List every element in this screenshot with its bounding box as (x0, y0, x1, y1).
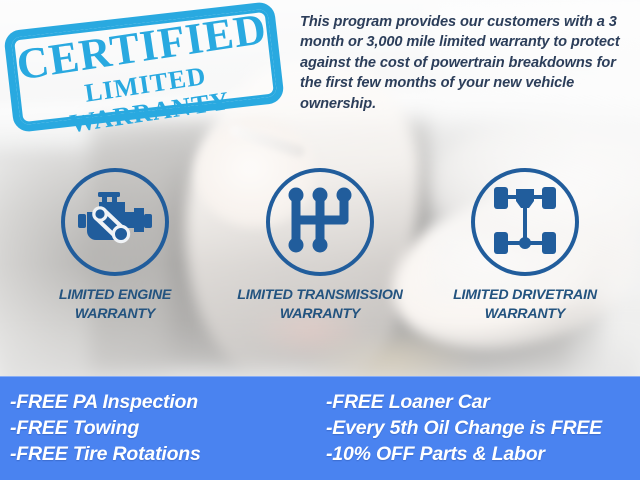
certified-warranty-banner: CERTIFIED LIMITED WARRANTY This program … (0, 0, 640, 480)
perks-column-left: -FREE PA Inspection -FREE Towing -FREE T… (0, 389, 318, 467)
transmission-shifter-icon (287, 186, 353, 259)
perks-bar: -FREE PA Inspection -FREE Towing -FREE T… (0, 376, 640, 480)
transmission-icon-circle (266, 168, 374, 276)
feature-label-engine: LIMITED ENGINE WARRANTY (59, 286, 171, 324)
feature-limited-engine-warranty: LIMITED ENGINE WARRANTY (22, 168, 208, 336)
drivetrain-icon-circle (471, 168, 579, 276)
perk-item: -10% OFF Parts & Labor (326, 441, 640, 467)
drivetrain-axles-icon (489, 186, 561, 259)
coverage-features: LIMITED ENGINE WARRANTY (0, 168, 640, 336)
perks-column-right: -FREE Loaner Car -Every 5th Oil Change i… (318, 389, 640, 467)
feature-limited-transmission-warranty: LIMITED TRANSMISSION WARRANTY (227, 168, 413, 336)
feature-label-drivetrain: LIMITED DRIVETRAIN WARRANTY (453, 286, 597, 324)
perk-item: -FREE Towing (10, 415, 318, 441)
perk-item: -FREE Tire Rotations (10, 441, 318, 467)
feature-limited-drivetrain-warranty: LIMITED DRIVETRAIN WARRANTY (432, 168, 618, 336)
perk-item: -Every 5th Oil Change is FREE (326, 415, 640, 441)
engine-icon (78, 190, 152, 255)
engine-icon-circle (61, 168, 169, 276)
feature-label-transmission: LIMITED TRANSMISSION WARRANTY (237, 286, 402, 324)
perk-item: -FREE PA Inspection (10, 389, 318, 415)
perk-item: -FREE Loaner Car (326, 389, 640, 415)
program-description-text: This program provides our customers with… (300, 12, 632, 114)
